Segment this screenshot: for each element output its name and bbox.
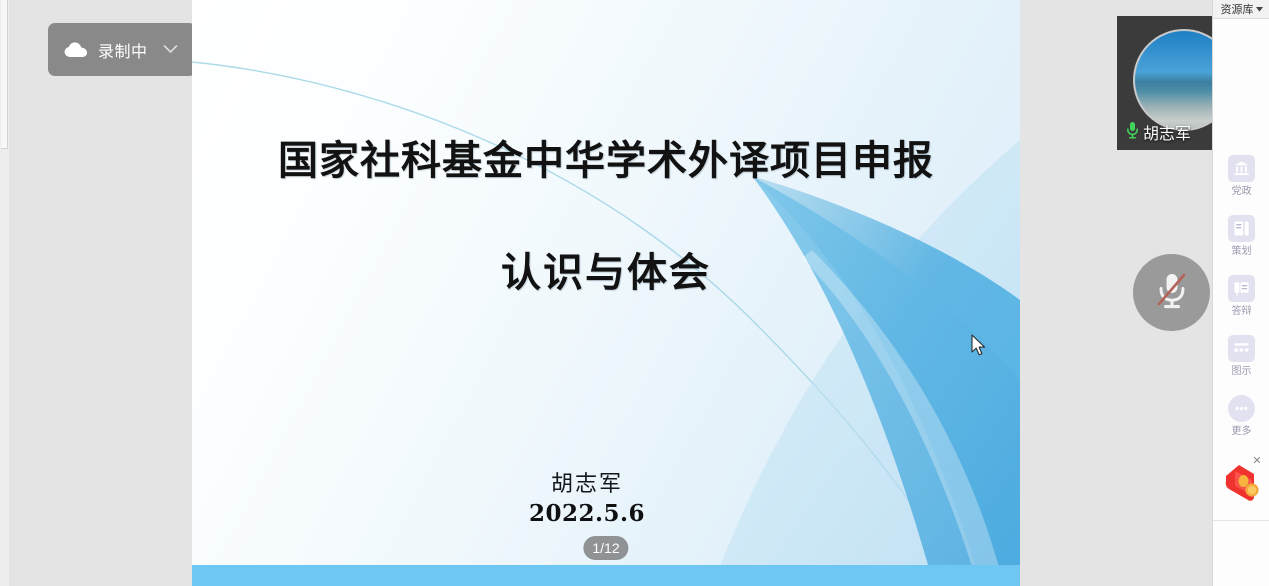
slide-canvas: 国家社科基金中华学术外译项目申报 认识与体会 胡志军 2022.5.6 1/12 bbox=[192, 0, 1020, 586]
microphone-muted-button[interactable] bbox=[1133, 254, 1210, 331]
chevron-down-icon[interactable] bbox=[163, 41, 178, 59]
slide-subtitle: 认识与体会 bbox=[192, 240, 1020, 298]
sidebar-item-dabian[interactable]: 答辩 bbox=[1213, 275, 1269, 335]
slide-bottom-band bbox=[192, 565, 1020, 586]
sidebar-tool-list: 党政 策划 bbox=[1213, 155, 1269, 455]
app-root: 录制中 bbox=[0, 0, 1269, 586]
page-indicator: 1/12 bbox=[583, 536, 628, 560]
slide-title: 国家社科基金中华学术外译项目申报 bbox=[192, 128, 1020, 186]
recording-label: 录制中 bbox=[98, 38, 148, 62]
presentation-stage[interactable]: 国家社科基金中华学术外译项目申报 认识与体会 胡志军 2022.5.6 1/12 bbox=[192, 0, 1020, 586]
sidebar-item-label: 更多 bbox=[1232, 427, 1252, 437]
sidebar-item-label: 图示 bbox=[1232, 367, 1252, 377]
diagram-icon bbox=[1228, 335, 1255, 362]
microphone-muted-icon bbox=[1153, 269, 1191, 316]
sidebar-item-cehua[interactable]: 策划 bbox=[1213, 215, 1269, 275]
sidebar-item-dangzheng[interactable]: 党政 bbox=[1213, 155, 1269, 215]
red-packet-promo[interactable]: ✕ bbox=[1222, 462, 1262, 506]
sidebar-item-label: 答辩 bbox=[1232, 307, 1252, 317]
mouse-cursor bbox=[971, 334, 987, 358]
left-scrollbar-thumb[interactable] bbox=[1, 0, 8, 149]
resource-library-label: 资源库 bbox=[1221, 1, 1254, 17]
left-blank-pane bbox=[9, 0, 192, 586]
plan-board-icon bbox=[1228, 215, 1255, 242]
participant-name-badge: 胡志军 bbox=[1125, 120, 1191, 144]
microphone-icon bbox=[1125, 121, 1140, 144]
slide-author: 胡志军 bbox=[192, 466, 982, 498]
resource-library-dropdown[interactable]: 资源库 bbox=[1213, 0, 1269, 19]
sidebar-divider bbox=[1213, 520, 1269, 521]
bank-icon bbox=[1228, 155, 1255, 182]
chevron-down-icon bbox=[1256, 3, 1263, 15]
defense-document-icon bbox=[1228, 275, 1255, 302]
cloud-icon bbox=[64, 42, 89, 58]
sidebar-item-gengduo[interactable]: 更多 bbox=[1213, 395, 1269, 455]
red-packet-icon[interactable] bbox=[1222, 493, 1262, 510]
sidebar-item-tushi[interactable]: 图示 bbox=[1213, 335, 1269, 395]
more-dots-icon bbox=[1228, 395, 1255, 422]
slide-date: 2022.5.6 bbox=[192, 500, 982, 527]
close-icon[interactable]: ✕ bbox=[1251, 455, 1263, 467]
sidebar-item-label: 党政 bbox=[1232, 187, 1252, 197]
recording-status-button[interactable]: 录制中 bbox=[48, 23, 196, 76]
sidebar-item-label: 策划 bbox=[1232, 247, 1252, 257]
participant-name: 胡志军 bbox=[1143, 120, 1191, 144]
